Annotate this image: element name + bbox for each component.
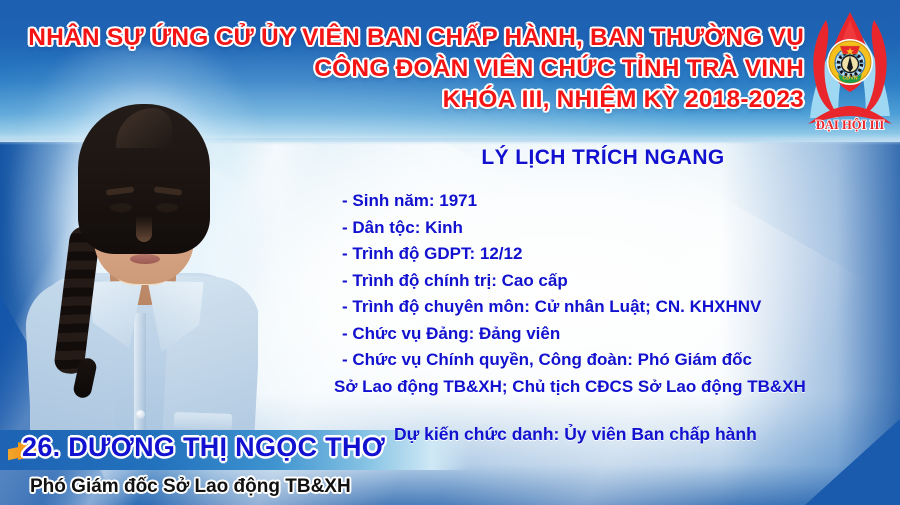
candidate-photo [26, 58, 258, 453]
slide-canvas: NHÂN SỰ ỨNG CỬ ỦY VIÊN BAN CHẤP HÀNH, BA… [0, 0, 900, 505]
list-item: - Chức vụ Chính quyền, Công đoàn: Phó Gi… [342, 347, 888, 374]
list-item: - Sinh năm: 1971 [342, 188, 888, 215]
list-item: Sở Lao động TB&XH; Chủ tịch CĐCS Sở Lao … [334, 374, 888, 401]
list-item: - Chức vụ Đảng: Đảng viên [342, 321, 888, 348]
portrait-eye-right [156, 203, 178, 212]
emblem-caption: ĐẠI HỘI III [816, 118, 885, 132]
portrait-nose [136, 216, 152, 242]
candidate-name: 26. DƯƠNG THỊ NGỌC THƠ [22, 432, 385, 463]
list-item: - Trình độ GDPT: 12/12 [342, 241, 888, 268]
portrait-mouth [130, 254, 160, 264]
portrait-shirt-pocket [174, 412, 233, 430]
svg-text:CĐVN: CĐVN [842, 75, 857, 81]
profile-detail-list: - Sinh năm: 1971 - Dân tộc: Kinh - Trình… [318, 188, 888, 400]
header-line-2: CÔNG ĐOÀN VIÊN CHỨC TỈNH TRÀ VINH [0, 53, 804, 84]
candidate-role: Phó Giám đốc Sở Lao động TB&XH [30, 476, 351, 498]
header-title-block: NHÂN SỰ ỨNG CỬ ỦY VIÊN BAN CHẤP HÀNH, BA… [0, 22, 886, 115]
profile-section-title: LÝ LỊCH TRÍCH NGANG [318, 146, 888, 170]
list-item: - Dân tộc: Kinh [342, 215, 888, 242]
portrait-photo [26, 58, 258, 453]
list-item: - Trình độ chính trị: Cao cấp [342, 268, 888, 295]
profile-panel: LÝ LỊCH TRÍCH NGANG - Sinh năm: 1971 - D… [318, 142, 888, 445]
header-line-1: NHÂN SỰ ỨNG CỬ ỦY VIÊN BAN CHẤP HÀNH, BA… [0, 22, 804, 53]
congress-emblem-icon: CĐVN ĐẠI HỘI III [804, 6, 896, 132]
list-item: - Trình độ chuyên môn: Cử nhân Luật; CN.… [342, 294, 888, 321]
portrait-shirt-button [136, 410, 145, 419]
expected-position-text: Dự kiến chức danh: Ủy viên Ban chấp hành [318, 424, 888, 445]
portrait-eye-left [110, 203, 132, 212]
header-line-3: KHÓA III, NHIỆM KỲ 2018-2023 [0, 84, 804, 115]
